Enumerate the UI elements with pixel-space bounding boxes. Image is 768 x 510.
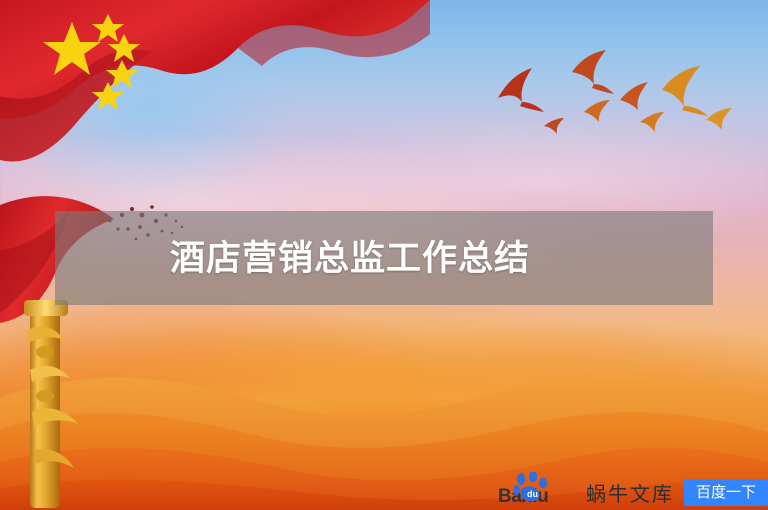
- baidu-logo: Baidu du: [498, 478, 576, 506]
- search-button[interactable]: 百度一下: [684, 479, 768, 506]
- flying-birds-flock: [480, 50, 768, 160]
- watermark-bar: Baidu du 蜗牛文库 百度一下: [498, 474, 768, 510]
- poster-image: 酒店营销总监工作总结 Baidu du 蜗牛文库 百度一下: [0, 0, 768, 510]
- site-name: 蜗牛文库: [586, 478, 674, 507]
- title-banner: 酒店营销总监工作总结: [55, 211, 713, 305]
- chinese-national-flag: [0, 0, 430, 180]
- page-title: 酒店营销总监工作总结: [170, 241, 530, 276]
- golden-ornamental-column: [8, 300, 98, 510]
- svg-text:du: du: [527, 489, 538, 499]
- baidu-paw-icon: du: [514, 472, 548, 502]
